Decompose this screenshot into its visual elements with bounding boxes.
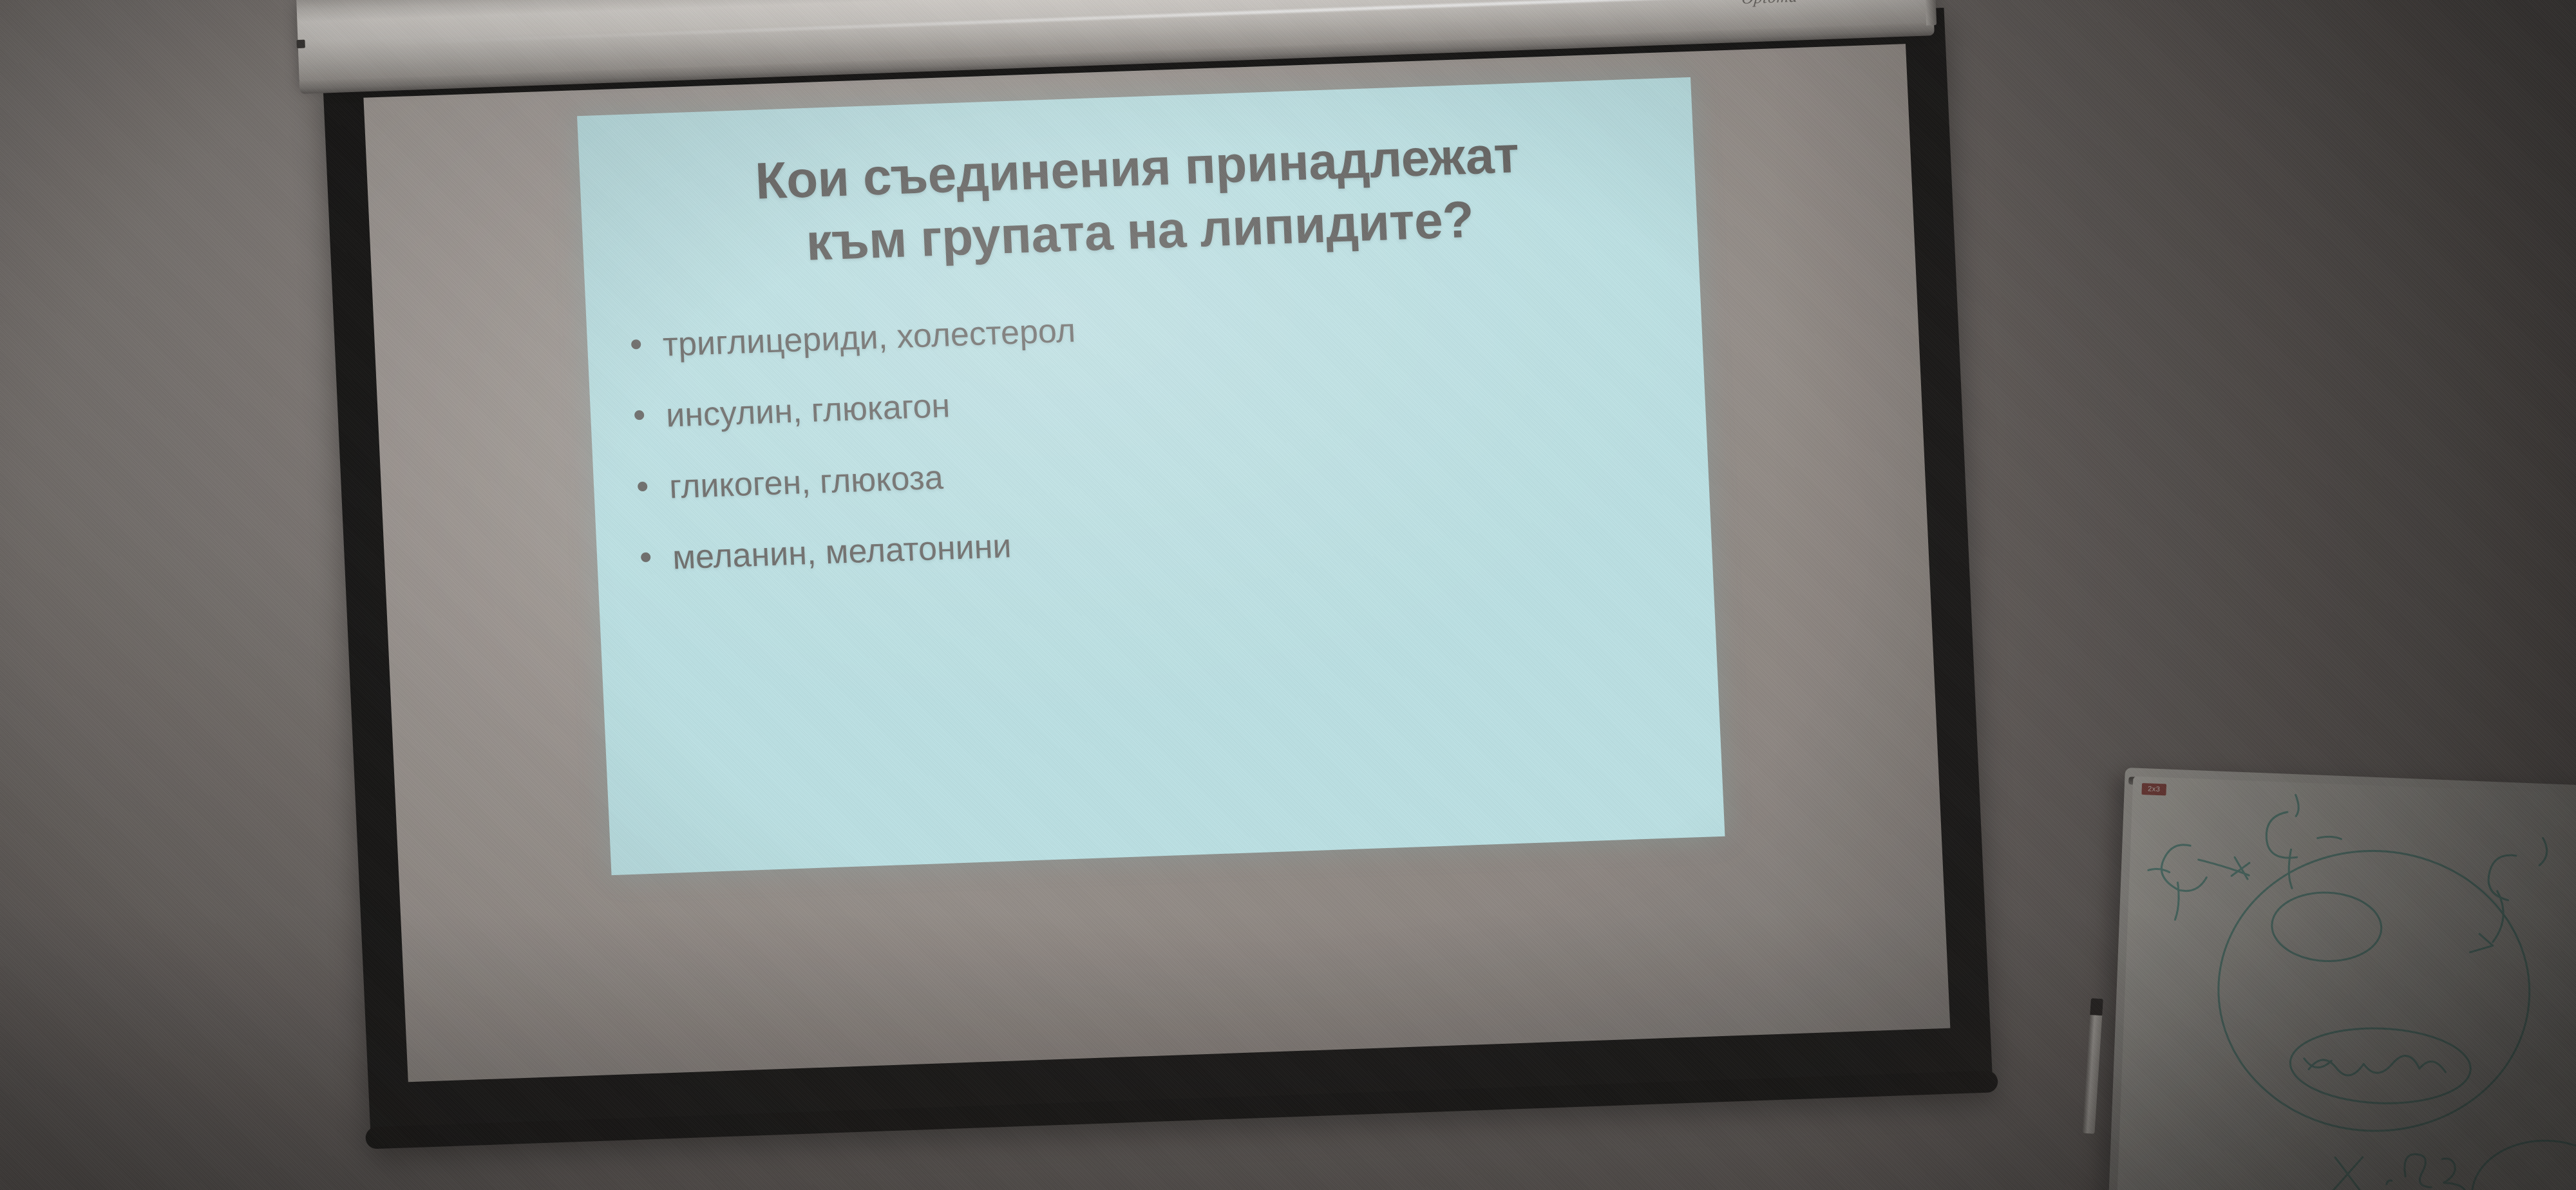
list-item: инсулин, глюкагон xyxy=(634,361,1678,437)
bullet-text: инсулин, глюкагон xyxy=(665,387,951,436)
roller-endcap-left xyxy=(296,40,305,48)
slide-bullet-list: триглицериди, холестерол инсулин, глюкаг… xyxy=(630,290,1686,610)
list-item: триглицериди, холестерол xyxy=(630,290,1675,366)
wall-shadow-bottom xyxy=(0,913,2576,1190)
classroom-scene: Кои съединения принадлежат към групата н… xyxy=(0,0,2576,1190)
list-item: гликоген, глюкоза xyxy=(637,432,1681,507)
bullet-dot-icon xyxy=(631,339,641,350)
bullet-dot-icon xyxy=(641,552,651,563)
bullet-text: гликоген, глюкоза xyxy=(668,458,944,506)
bullet-dot-icon xyxy=(638,481,648,491)
bullet-text: триглицериди, холестерол xyxy=(662,311,1076,364)
projected-slide: Кои съединения принадлежат към групата н… xyxy=(577,77,1725,875)
bullet-dot-icon xyxy=(634,410,645,420)
bullet-text: меланин, мелатонини xyxy=(672,527,1012,578)
list-item: меланин, мелатонини xyxy=(640,504,1685,579)
slide-title: Кои съединения принадлежат към групата н… xyxy=(579,117,1698,281)
